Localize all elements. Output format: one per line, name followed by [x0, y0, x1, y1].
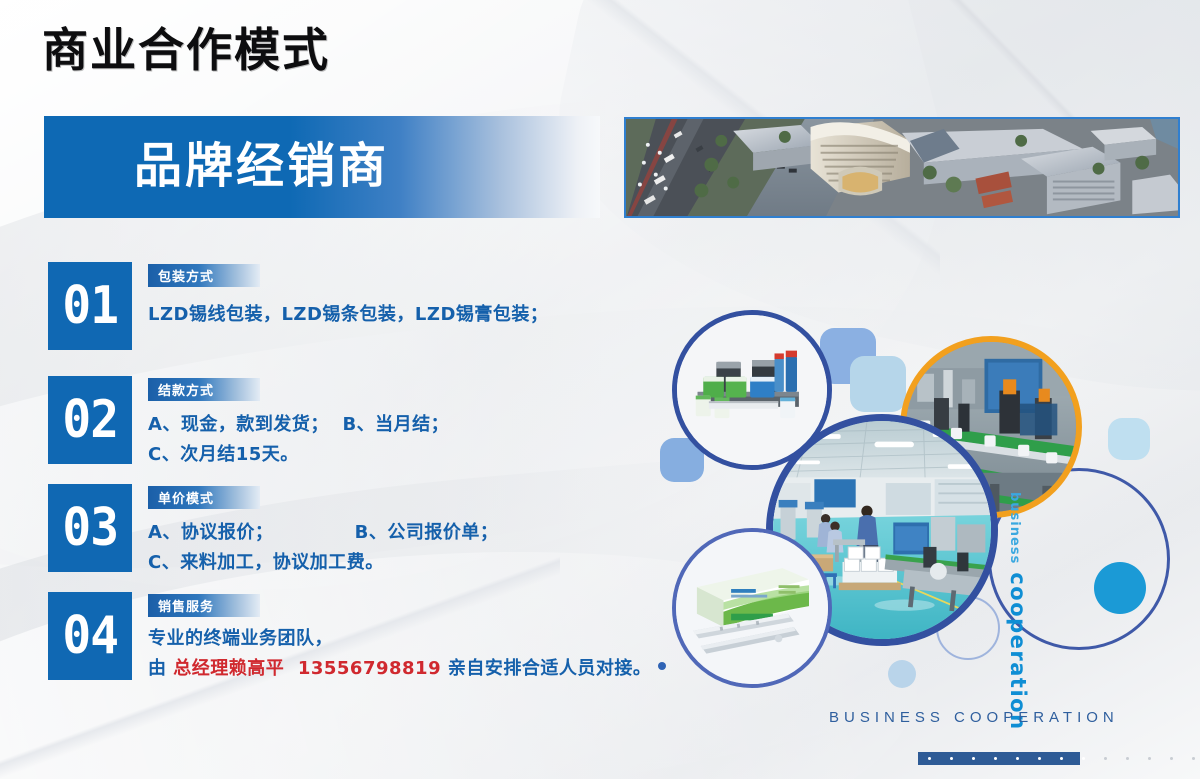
- brand-dealer-banner: 品牌经销商: [44, 116, 600, 218]
- item-body-line: C、次月结15天。: [148, 440, 299, 466]
- contact-person: 总经理赖高平: [173, 658, 284, 679]
- decor-square-blue-5: [888, 660, 916, 688]
- dot: [1060, 757, 1063, 760]
- contact-suffix: 亲自安排合适人员对接。: [441, 658, 651, 679]
- item-number: 04: [62, 606, 118, 666]
- list-item: 03 单价模式 A、协议报价； B、公司报价单； C、来料加工，协议加工费。: [48, 484, 608, 576]
- item-tag: 单价模式: [148, 486, 260, 509]
- vertical-caption-small: business: [1007, 492, 1022, 564]
- item-tag-label: 包装方式: [158, 266, 214, 285]
- dot: [1170, 757, 1173, 760]
- dot: [1192, 757, 1195, 760]
- vertical-caption: business cooperation: [1006, 492, 1030, 731]
- contact-phone: 13556798819: [298, 658, 441, 679]
- item-tag: 包装方式: [148, 264, 260, 287]
- footer-dots: [918, 752, 1200, 765]
- poster-canvas: 商业合作模式 品牌经销商: [0, 0, 1200, 779]
- item-number-badge: 01: [48, 262, 132, 350]
- contact-gap: [284, 658, 298, 679]
- decor-square-blue-2: [850, 356, 906, 412]
- dot: [950, 757, 953, 760]
- circle-photo-solder-box: [672, 528, 832, 688]
- item-tag-label: 结款方式: [158, 380, 214, 399]
- footer-caption: BUSINESS COOPERATION: [829, 709, 1119, 726]
- item-contact-line: 由 总经理赖高平 13556798819 亲自安排合适人员对接。: [148, 654, 651, 680]
- aerial-campus-photo: [624, 117, 1180, 218]
- dot: [1082, 757, 1085, 760]
- item-number-badge: 03: [48, 484, 132, 572]
- dot: [1104, 757, 1107, 760]
- dot: [994, 757, 997, 760]
- item-body-line: C、来料加工，协议加工费。: [148, 548, 384, 574]
- item-number: 03: [62, 498, 118, 558]
- item-number-badge: 04: [48, 592, 132, 680]
- dot: [928, 757, 931, 760]
- contact-prefix: 由: [148, 658, 173, 679]
- item-body-line: A、现金，款到发货； B、当月结；: [148, 410, 449, 436]
- dot: [1038, 757, 1041, 760]
- banner-title: 品牌经销商: [134, 138, 389, 196]
- dot: [1016, 757, 1019, 760]
- item-tag-label: 销售服务: [158, 596, 214, 615]
- dot: [1126, 757, 1129, 760]
- solder-box-illustration: [676, 532, 828, 684]
- aerial-campus-illustration: [626, 119, 1178, 218]
- item-body-line: A、协议报价； B、公司报价单；: [148, 518, 498, 544]
- item-number: 02: [62, 390, 118, 450]
- list-item: 01 包装方式 LZD锡线包装，LZD锡条包装，LZD锡膏包装；: [48, 262, 608, 354]
- vertical-caption-big: cooperation: [1006, 572, 1030, 730]
- item-tag: 结款方式: [148, 378, 260, 401]
- page-title: 商业合作模式: [42, 27, 330, 73]
- list-item: 02 结款方式 A、现金，款到发货； B、当月结； C、次月结15天。: [48, 376, 608, 468]
- dot: [972, 757, 975, 760]
- decor-square-blue-4: [1108, 418, 1150, 460]
- decor-dot-small: [658, 662, 666, 670]
- item-body-line: 专业的终端业务团队，: [148, 624, 333, 650]
- list-item: 04 销售服务 专业的终端业务团队， 由 总经理赖高平 13556798819 …: [48, 592, 668, 684]
- item-tag-label: 单价模式: [158, 488, 214, 507]
- decor-circle-cyan: [1094, 562, 1146, 614]
- item-body-line: LZD锡线包装，LZD锡条包装，LZD锡膏包装；: [148, 300, 548, 326]
- item-number: 01: [62, 276, 118, 336]
- item-tag: 销售服务: [148, 594, 260, 617]
- dot: [1148, 757, 1151, 760]
- item-number-badge: 02: [48, 376, 132, 464]
